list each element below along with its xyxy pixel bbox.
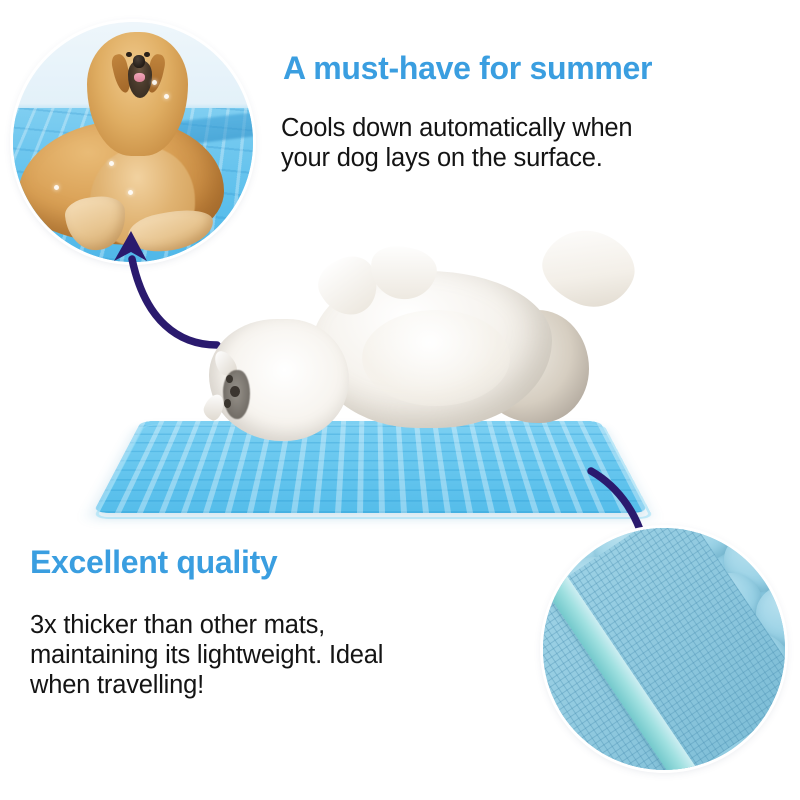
dog-eye-left: [126, 52, 132, 58]
water-droplet: [152, 80, 157, 85]
dog-body: [18, 120, 224, 245]
dog-muzzle: [128, 60, 152, 97]
husky-torso: [312, 271, 552, 428]
water-droplet: [128, 190, 133, 195]
feature-body-quality-line-1: 3x thicker than other mats,: [30, 610, 480, 640]
husky-rump: [477, 310, 589, 424]
husky-eye-left: [226, 375, 233, 384]
husky-hind-leg-left: [311, 248, 388, 324]
binding-seam: [543, 528, 731, 770]
pool-background: [13, 22, 253, 262]
dog-ear-right: [144, 53, 167, 94]
husky-nose: [230, 386, 240, 397]
dog-chest: [90, 147, 196, 248]
husky-face-mask: [223, 370, 250, 419]
feature-body-summer-line-2: your dog lays on the surface.: [281, 143, 721, 173]
husky-head: [209, 319, 349, 441]
feature-heading-summer: A must-have for summer: [283, 50, 652, 87]
feature-body-summer-line-1: Cools down automatically when: [281, 113, 721, 143]
product-infographic: A must-have for summer Cools down automa…: [0, 0, 800, 800]
husky-ear-right: [201, 392, 228, 423]
feature-body-quality-line-3: when travelling!: [30, 670, 480, 700]
dog-tongue: [134, 73, 145, 81]
feature-body-summer: Cools down automatically when your dog l…: [281, 113, 721, 173]
fabric-photo-inner: [543, 528, 785, 770]
water-droplet: [109, 161, 114, 166]
water-droplet: [54, 185, 59, 190]
dog-nose: [133, 55, 145, 67]
blue-cooling-mat-surface: [13, 108, 253, 262]
fabric-background: [543, 528, 785, 770]
mesh-underside-layer: [543, 528, 785, 770]
quilted-pebble-texture: [543, 528, 785, 770]
husky-puppy: [205, 244, 618, 462]
golden-retriever-photo-inner: [13, 22, 253, 262]
feature-body-quality: 3x thicker than other mats, maintaining …: [30, 610, 480, 700]
husky-hind-leg-right: [366, 241, 440, 304]
dog-front-paw-left: [63, 194, 128, 253]
water-droplet: [164, 94, 169, 99]
feature-heading-quality: Excellent quality: [30, 544, 277, 581]
dog-ear-left: [109, 53, 132, 94]
husky-belly: [362, 310, 511, 406]
feature-body-quality-line-2: maintaining its lightweight. Ideal: [30, 640, 480, 670]
dog-eye-right: [144, 52, 150, 58]
husky-ear-left: [210, 348, 240, 380]
mat-edge-strip: [151, 111, 253, 148]
dog-head: [87, 32, 188, 157]
husky-on-cooling-mat-hero-image: [75, 250, 665, 530]
golden-retriever-callout-image: [13, 22, 253, 262]
husky-eye-right: [224, 399, 231, 408]
quilted-fabric-callout-image: [543, 528, 785, 770]
